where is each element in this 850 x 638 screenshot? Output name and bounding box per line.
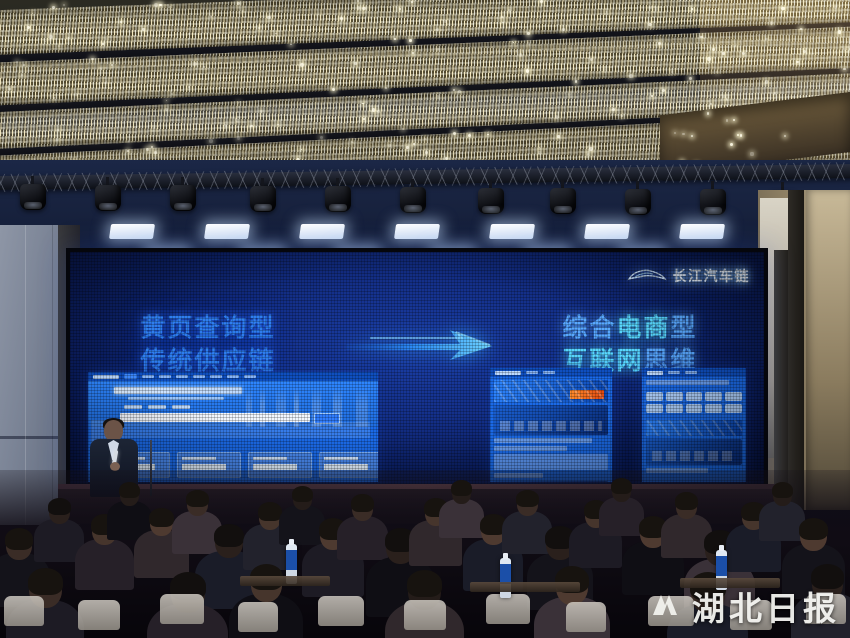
mock-app-icon <box>686 392 703 401</box>
mock-search-input <box>120 413 310 422</box>
rect-panel-light-icon <box>489 224 535 239</box>
audience-shoulders <box>75 539 134 590</box>
rect-panel-light-icon <box>679 224 725 239</box>
stage-spotlight-icon <box>550 180 576 214</box>
mock-site-logo <box>93 375 119 379</box>
headline-right-line1: 综合电商型 <box>500 311 760 344</box>
audience-chair <box>78 600 120 630</box>
audience-hair <box>451 480 472 496</box>
audience-hair <box>407 570 442 597</box>
hubei-daily-mark-icon <box>650 589 684 623</box>
audience-hair <box>799 518 828 540</box>
audience-hair <box>149 508 174 527</box>
audience-hair <box>48 498 71 515</box>
brand-name: 长江汽车链 <box>673 266 751 286</box>
led-screen: 长江汽车链 黄页查询型 传统供应链 综合电商型 互联网思维 <box>70 252 764 484</box>
right-wall-column <box>788 190 804 510</box>
transition-arrow <box>342 308 512 372</box>
audience-chair <box>238 602 278 632</box>
mock-app-logo <box>647 371 663 375</box>
audience-hair <box>611 478 632 494</box>
brand-logo: 长江汽车链 <box>627 266 751 286</box>
headline-left: 黄页查询型 传统供应链 <box>78 311 338 377</box>
rect-panel-light-icon <box>204 224 250 239</box>
stage-spotlight-icon <box>478 180 504 214</box>
mock-nav-item <box>210 375 222 378</box>
mock-tab <box>172 405 190 409</box>
mock-hero-tabs <box>124 405 190 409</box>
rect-panel-light-icon <box>394 224 440 239</box>
mock-promo-badge <box>570 390 604 399</box>
audience-hair <box>351 494 374 512</box>
mock-tab <box>124 405 142 409</box>
presenter-head <box>104 420 123 441</box>
mock-app-icon <box>705 392 722 401</box>
stage-spotlight-icon <box>400 179 426 213</box>
mock-nav-item <box>193 375 205 378</box>
audience-hair <box>675 492 698 510</box>
audience-hair <box>292 486 313 502</box>
mock-app-nav-item <box>685 371 697 374</box>
water-bottle <box>500 558 511 598</box>
mock-nav-item <box>142 375 154 378</box>
mock-app-icon <box>725 404 742 413</box>
mock-app-search <box>646 380 729 385</box>
mock-content-block <box>494 454 608 470</box>
mock-app-icon <box>686 404 703 413</box>
audience-chair <box>4 596 44 626</box>
mock-nav-item <box>159 375 171 378</box>
audience-chair <box>318 596 364 626</box>
right-arrow-icon <box>342 308 512 372</box>
mock-app-header <box>642 368 746 377</box>
door-frame <box>774 250 788 500</box>
stage-spotlight-icon <box>700 181 726 215</box>
stage-spotlight-icon <box>625 181 651 215</box>
right-wall-wood-panel <box>806 190 850 510</box>
audience-hair <box>214 524 244 547</box>
audience-hair <box>5 528 33 550</box>
ceiling-chandelier <box>0 0 850 172</box>
audience-hair <box>772 482 793 498</box>
conference-photo: 长江汽车链 黄页查询型 传统供应链 综合电商型 互联网思维 <box>0 0 850 638</box>
mock-site-logo <box>495 371 521 375</box>
mock-nav-item <box>526 371 538 374</box>
audience-chair <box>160 594 204 624</box>
mock-app-nav-item <box>668 371 680 374</box>
stage-spotlight-icon <box>250 178 276 212</box>
changjiang-auto-chain-logo-icon <box>627 268 667 284</box>
mock-nav-active <box>124 374 137 379</box>
mock-text-row <box>494 438 592 443</box>
headline-left-line1: 黄页查询型 <box>78 311 338 344</box>
audience-chair <box>404 600 446 630</box>
mock-nav-item <box>176 375 188 378</box>
audience-hair <box>186 490 209 507</box>
conference-table <box>240 576 330 586</box>
headline-highlight-1: 电商 <box>616 313 670 342</box>
mock-app-icon <box>666 392 683 401</box>
mock-nav-item <box>227 375 239 378</box>
mock-thumbnail <box>494 405 608 435</box>
mock-text-row <box>494 446 567 451</box>
mock-app-banner <box>646 420 742 436</box>
audience-hair <box>28 568 63 595</box>
mock-nav-bar <box>490 368 612 377</box>
rect-panel-light-icon <box>584 224 630 239</box>
audience-hair <box>516 490 539 507</box>
mock-app-thumbnail <box>646 439 742 465</box>
stage-spotlight-icon <box>325 178 351 212</box>
mock-nav-item <box>543 371 555 374</box>
watermark: 湖北日报 <box>650 582 840 630</box>
audience-hair <box>119 482 140 498</box>
news-portal-mockup <box>490 368 612 482</box>
mock-app-icon <box>646 392 663 401</box>
mock-hero-title <box>114 387 242 394</box>
audience-chair <box>486 594 530 624</box>
stage-spotlight-icon <box>170 177 196 211</box>
mobile-app-mockup <box>642 368 746 482</box>
mock-icon-grid <box>642 388 746 417</box>
stage-spotlight-icon <box>95 177 121 211</box>
mock-app-icon <box>705 404 722 413</box>
mock-nav-item <box>244 375 256 378</box>
mock-nav-bar <box>88 372 378 381</box>
mock-banner <box>494 380 608 402</box>
rect-panel-light-icon <box>299 224 345 239</box>
mock-app-icon <box>666 404 683 413</box>
stage-spotlight-icon <box>20 176 46 210</box>
mock-tab <box>148 405 166 409</box>
rect-panel-light-icon <box>109 224 155 239</box>
mock-app-icon <box>725 392 742 401</box>
mock-hero-subtitle <box>128 397 224 400</box>
audience-chair <box>566 602 606 632</box>
conference-table <box>470 582 580 592</box>
watermark-text: 湖北日报 <box>692 582 840 630</box>
mock-app-icon <box>646 404 663 413</box>
mock-content-strip <box>120 422 370 438</box>
